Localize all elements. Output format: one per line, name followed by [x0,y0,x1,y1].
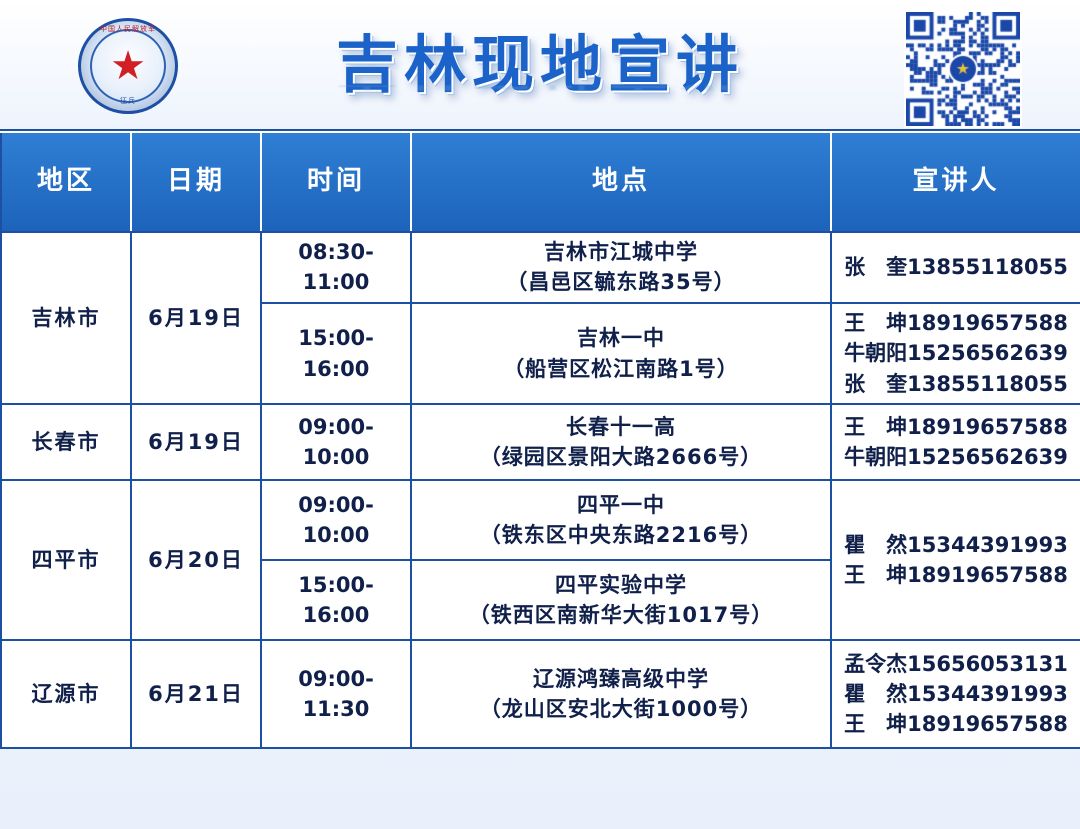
cell-speaker: 孟令杰15656053131瞿 然15344391993王 坤189196575… [831,640,1080,748]
cell-speaker: 瞿 然15344391993王 坤18919657588 [831,480,1080,640]
cell-date: 6月20日 [131,480,261,640]
place-address: （船营区松江南路1号） [418,354,824,384]
schedule-table: 地区 日期 时间 地点 宣讲人 吉林市6月19日08:30-11:00吉林市江城… [0,131,1080,749]
place-name: 四平一中 [418,490,824,520]
speaker-entry: 王 坤18919657588 [838,709,1074,739]
table-header: 地区 日期 时间 地点 宣讲人 [1,132,1080,232]
cell-region: 吉林市 [1,232,131,404]
cell-region: 长春市 [1,404,131,480]
speaker-entry: 王 坤18919657588 [838,308,1074,338]
cell-speaker: 张 奎13855118055 [831,232,1080,303]
cell-time: 09:00-11:30 [261,640,411,748]
speaker-entry: 牛朝阳15256562639 [838,338,1074,368]
cell-date: 6月19日 [131,404,261,480]
cell-place: 辽源鸿臻高级中学（龙山区安北大街1000号） [411,640,831,748]
speaker-entry: 王 坤18919657588 [838,412,1074,442]
speaker-entry: 瞿 然15344391993 [838,530,1074,560]
cell-speaker: 王 坤18919657588牛朝阳15256562639张 奎138551180… [831,303,1080,404]
speaker-entry: 张 奎13855118055 [838,369,1074,399]
cell-time: 15:00-16:00 [261,303,411,404]
cell-time: 09:00-10:00 [261,404,411,480]
col-header-place: 地点 [411,132,831,232]
cell-date: 6月21日 [131,640,261,748]
cell-speaker: 王 坤18919657588牛朝阳15256562639 [831,404,1080,480]
place-address: （龙山区安北大街1000号） [418,694,824,724]
speaker-entry: 牛朝阳15256562639 [838,442,1074,472]
cell-date: 6月19日 [131,232,261,404]
place-name: 吉林市江城中学 [418,237,824,267]
cell-time: 09:00-10:00 [261,480,411,560]
place-address: （绿园区景阳大路2666号） [418,442,824,472]
qr-code-icon[interactable] [904,10,1022,128]
speaker-entry: 王 坤18919657588 [838,560,1074,590]
speaker-entry: 孟令杰15656053131 [838,649,1074,679]
place-name: 长春十一高 [418,412,824,442]
poster-page: 中国人民解放军 ★ 征兵 吉林现地宣讲 吉林现地宣讲 地区 日期 时间 地点 宣… [0,0,1080,829]
place-address: （昌邑区毓东路35号） [418,267,824,297]
cell-region: 辽源市 [1,640,131,748]
cell-region: 四平市 [1,480,131,640]
speaker-entry: 张 奎13855118055 [838,252,1074,282]
table-row: 辽源市6月21日09:00-11:30辽源鸿臻高级中学（龙山区安北大街1000号… [1,640,1080,748]
place-name: 吉林一中 [418,323,824,353]
cell-place: 长春十一高（绿园区景阳大路2666号） [411,404,831,480]
speaker-entry: 瞿 然15344391993 [838,679,1074,709]
place-name: 四平实验中学 [418,570,824,600]
cell-place: 四平实验中学（铁西区南新华大街1017号） [411,560,831,640]
cell-time: 08:30-11:00 [261,232,411,303]
cell-time: 15:00-16:00 [261,560,411,640]
place-address: （铁东区中央东路2216号） [418,520,824,550]
poster-header: 中国人民解放军 ★ 征兵 吉林现地宣讲 吉林现地宣讲 [0,0,1080,131]
table-row: 吉林市6月19日08:30-11:00吉林市江城中学（昌邑区毓东路35号）张 奎… [1,232,1080,303]
place-name: 辽源鸿臻高级中学 [418,664,824,694]
table-row: 四平市6月20日09:00-10:00四平一中（铁东区中央东路2216号）瞿 然… [1,480,1080,560]
table-body: 吉林市6月19日08:30-11:00吉林市江城中学（昌邑区毓东路35号）张 奎… [1,232,1080,748]
cell-place: 吉林一中（船营区松江南路1号） [411,303,831,404]
table-header-row: 地区 日期 时间 地点 宣讲人 [1,132,1080,232]
place-address: （铁西区南新华大街1017号） [418,600,824,630]
col-header-region: 地区 [1,132,131,232]
col-header-date: 日期 [131,132,261,232]
cell-place: 四平一中（铁东区中央东路2216号） [411,480,831,560]
col-header-time: 时间 [261,132,411,232]
table-row: 长春市6月19日09:00-10:00长春十一高（绿园区景阳大路2666号）王 … [1,404,1080,480]
cell-place: 吉林市江城中学（昌邑区毓东路35号） [411,232,831,303]
col-header-speaker: 宣讲人 [831,132,1080,232]
